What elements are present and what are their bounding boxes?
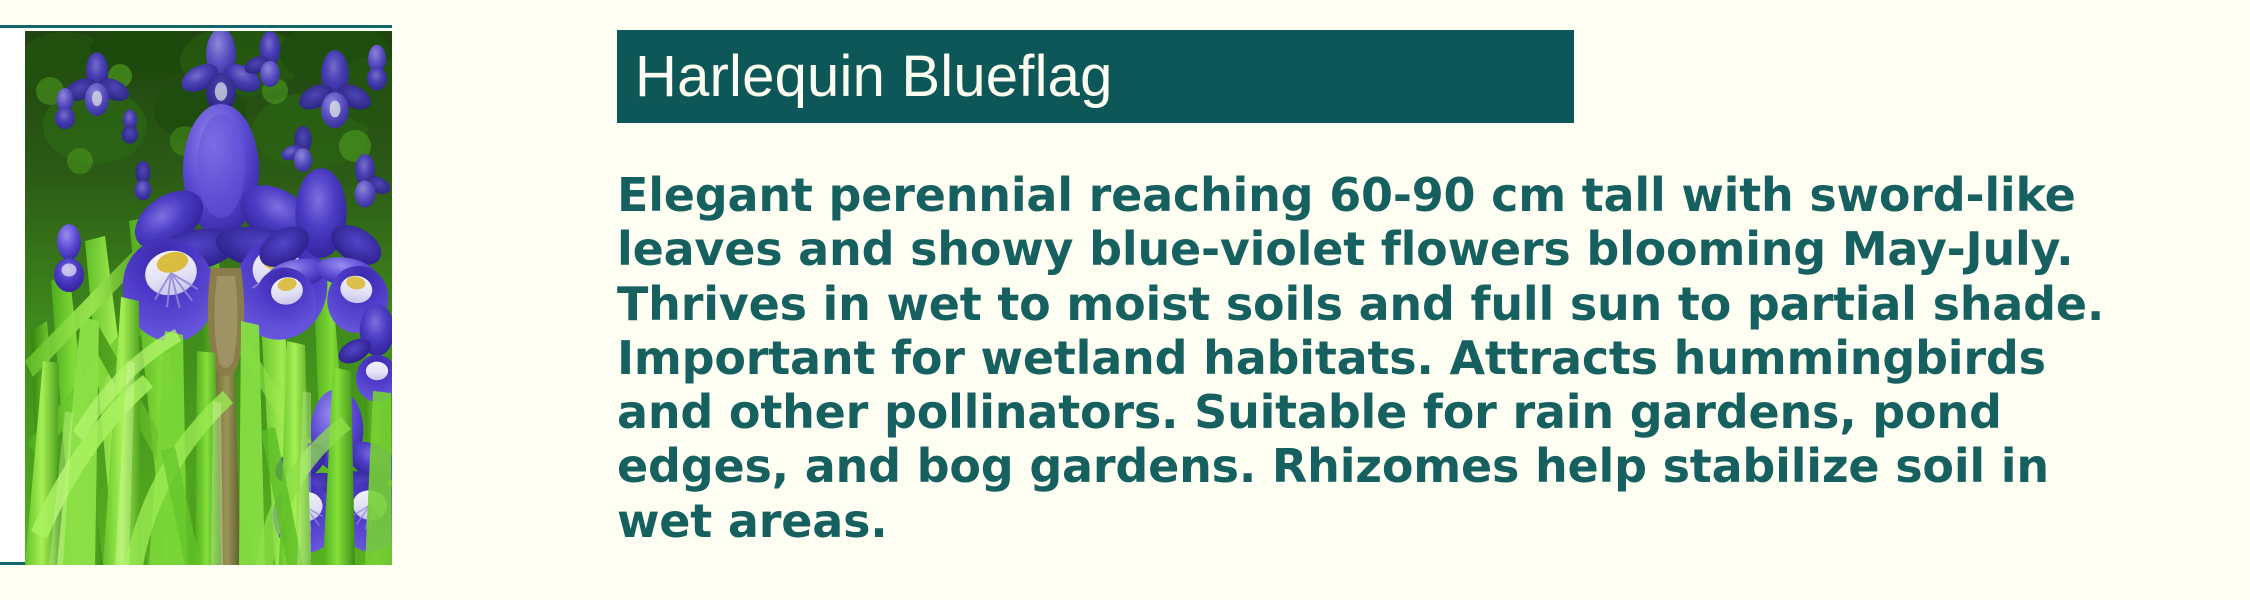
plant-photo-frame (25, 31, 392, 565)
plant-info-card: Harlequin Blueflag Elegant perennial rea… (0, 0, 2250, 600)
plant-title: Harlequin Blueflag (635, 48, 1113, 106)
plant-description: Elegant perennial reaching 60-90 cm tall… (617, 168, 2137, 548)
iris-photo (25, 31, 392, 565)
plant-text-content: Harlequin Blueflag Elegant perennial rea… (617, 0, 2217, 600)
plant-image-panel (0, 25, 392, 565)
plant-title-banner: Harlequin Blueflag (617, 30, 1574, 123)
iris-photo-graphic (25, 31, 392, 565)
